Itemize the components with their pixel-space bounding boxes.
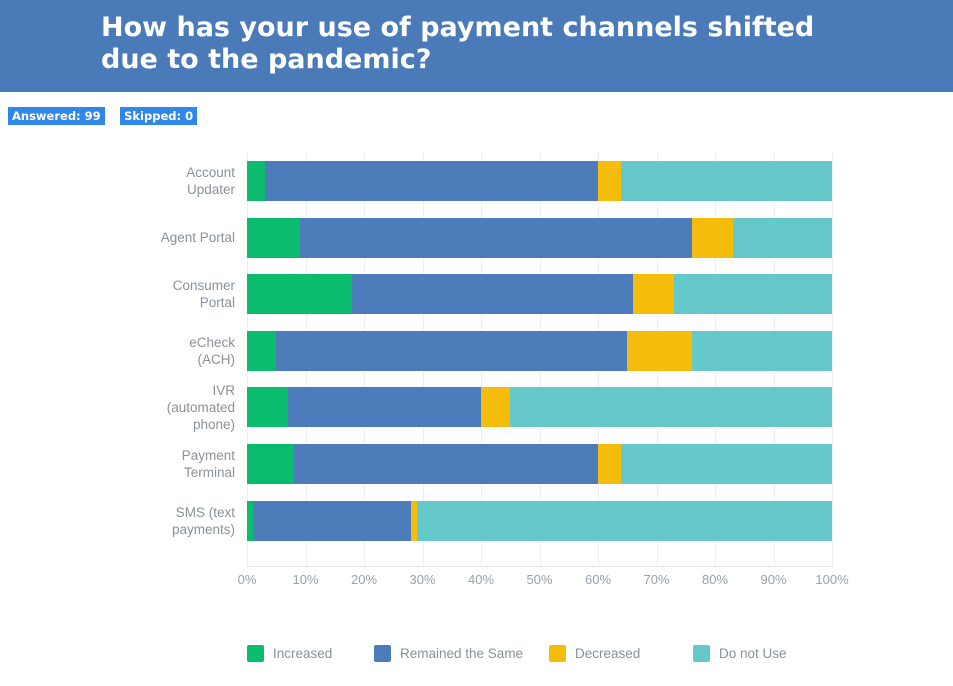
bar-segment-remained-the-same[interactable] (265, 161, 598, 201)
x-tick-label: 50% (510, 572, 570, 587)
stacked-bar (247, 274, 832, 314)
survey-stats: Answered: 99 Skipped: 0 (8, 107, 197, 125)
legend-label: Increased (273, 646, 332, 661)
x-tick-label: 0% (217, 572, 277, 587)
x-tick-label: 40% (451, 572, 511, 587)
axis-baseline (247, 566, 832, 567)
gridline (832, 152, 833, 567)
legend-label: Decreased (575, 646, 640, 661)
answered-badge: Answered: 99 (8, 107, 105, 125)
stacked-bar (247, 331, 832, 371)
bar-segment-remained-the-same[interactable] (294, 444, 598, 484)
chart-area: Account UpdaterAgent PortalConsumer Port… (0, 140, 953, 686)
x-tick-label: 60% (568, 572, 628, 587)
bar-segment-remained-the-same[interactable] (288, 387, 481, 427)
x-tick-label: 70% (627, 572, 687, 587)
x-tick-label: 90% (744, 572, 804, 587)
bar-segment-increased[interactable] (247, 218, 300, 258)
x-tick-label: 10% (276, 572, 336, 587)
bar-segment-increased[interactable] (247, 274, 352, 314)
category-label: Consumer Portal (95, 277, 235, 311)
bar-segment-remained-the-same[interactable] (253, 501, 411, 541)
bar-segment-decreased[interactable] (692, 218, 733, 258)
bar-segment-do-not-use[interactable] (692, 331, 832, 371)
category-label: eCheck (ACH) (95, 334, 235, 368)
legend-item-decreased[interactable]: Decreased (549, 645, 640, 665)
bar-row (247, 274, 832, 314)
bar-segment-decreased[interactable] (481, 387, 510, 427)
bar-segment-increased[interactable] (247, 331, 276, 371)
bar-row (247, 161, 832, 201)
category-label: Account Updater (95, 164, 235, 198)
legend-item-remained-the-same[interactable]: Remained the Same (374, 645, 523, 665)
legend-item-do-not-use[interactable]: Do not Use (693, 645, 787, 665)
bar-segment-increased[interactable] (247, 387, 288, 427)
bar-segment-increased[interactable] (247, 444, 294, 484)
category-label: IVR (automated phone) (95, 382, 235, 433)
bar-segment-do-not-use[interactable] (621, 161, 832, 201)
page-title: How has your use of payment channels shi… (101, 12, 901, 76)
bar-row (247, 218, 832, 258)
header-band: How has your use of payment channels shi… (0, 0, 953, 92)
bar-row (247, 331, 832, 371)
bar-segment-remained-the-same[interactable] (276, 331, 627, 371)
stacked-bar (247, 444, 832, 484)
stacked-bar (247, 387, 832, 427)
x-tick-label: 100% (802, 572, 862, 587)
bar-segment-do-not-use[interactable] (621, 444, 832, 484)
bar-segment-decreased[interactable] (633, 274, 674, 314)
bar-segment-do-not-use[interactable] (674, 274, 832, 314)
bar-segment-do-not-use[interactable] (510, 387, 832, 427)
bar-segment-decreased[interactable] (598, 444, 621, 484)
legend-item-increased[interactable]: Increased (247, 645, 332, 665)
bar-segment-do-not-use[interactable] (733, 218, 832, 258)
stacked-bar (247, 161, 832, 201)
x-tick-label: 20% (334, 572, 394, 587)
bar-segment-increased[interactable] (247, 161, 265, 201)
bar-segment-do-not-use[interactable] (417, 501, 832, 541)
category-label: SMS (text payments) (95, 504, 235, 538)
bar-segment-remained-the-same[interactable] (352, 274, 633, 314)
skipped-badge: Skipped: 0 (120, 107, 197, 125)
x-tick-label: 30% (393, 572, 453, 587)
chart-legend: IncreasedRemained the SameDecreasedDo no… (247, 645, 847, 667)
stacked-bar (247, 501, 832, 541)
category-label: Payment Terminal (95, 447, 235, 481)
stacked-bar (247, 218, 832, 258)
bar-row (247, 444, 832, 484)
bar-segment-decreased[interactable] (627, 331, 691, 371)
bar-segment-decreased[interactable] (598, 161, 621, 201)
category-label: Agent Portal (95, 229, 235, 246)
plot-area (247, 152, 832, 567)
bar-segment-remained-the-same[interactable] (300, 218, 692, 258)
legend-swatch-icon (549, 645, 566, 662)
legend-swatch-icon (247, 645, 264, 662)
legend-swatch-icon (374, 645, 391, 662)
legend-label: Do not Use (719, 646, 787, 661)
legend-label: Remained the Same (400, 646, 523, 661)
x-tick-label: 80% (685, 572, 745, 587)
legend-swatch-icon (693, 645, 710, 662)
bar-row (247, 501, 832, 541)
bar-row (247, 387, 832, 427)
